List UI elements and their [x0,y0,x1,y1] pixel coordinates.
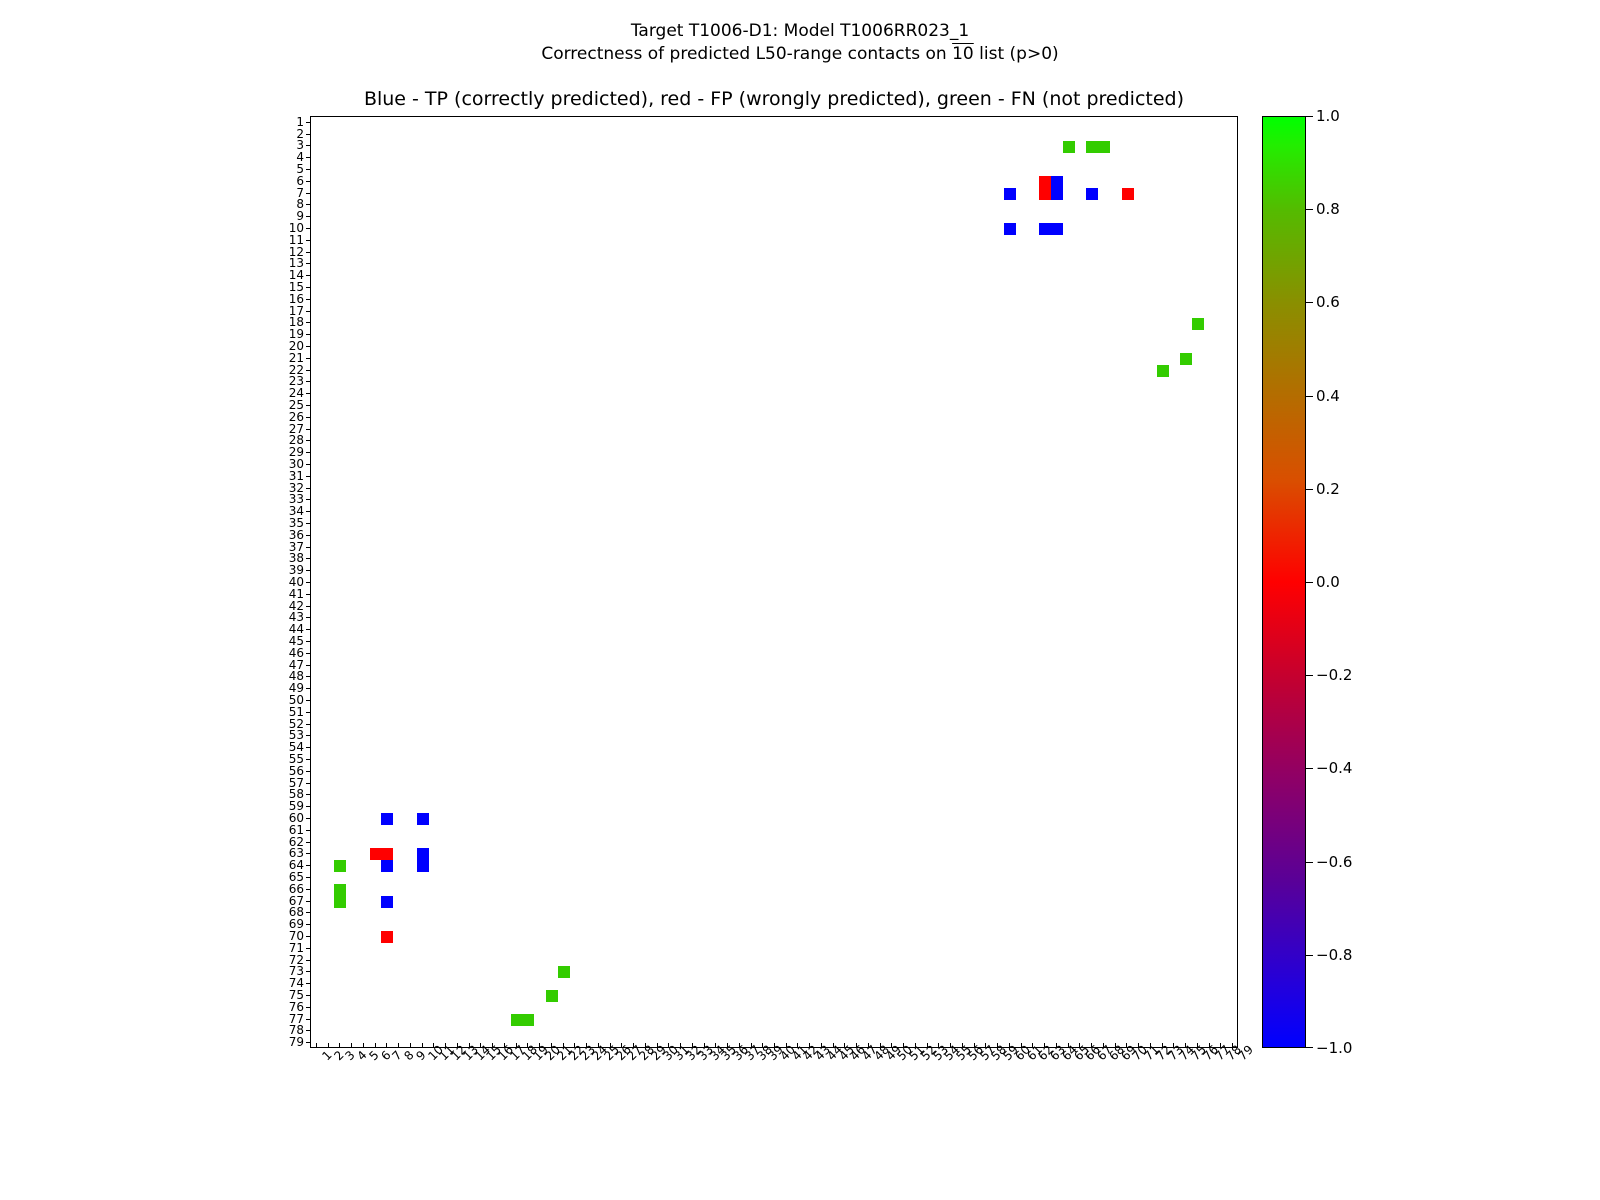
colorbar-tick-labels: 1.00.80.60.40.20.0−0.2−0.4−0.6−0.8−1.0 [1316,116,1396,1048]
contact-cell-tp [381,896,393,908]
y-axis-tick [306,169,311,170]
y-axis-tick [306,983,311,984]
y-axis-tick [306,299,311,300]
suptitle-overline-value: 10 [952,44,974,64]
y-axis-tick [306,594,311,595]
y-axis-tick [306,405,311,406]
contact-cell-tp [417,813,429,825]
suptitle-line-1: Target T1006-D1: Model T1006RR023_1 [631,21,969,41]
contact-cell-tp [381,860,393,872]
x-axis-tick [351,1043,352,1048]
y-axis-tick [306,759,311,760]
y-axis-tick [306,865,311,866]
y-axis-tick [306,948,311,949]
contact-cell-fn [1063,141,1075,153]
y-axis-tick [306,901,311,902]
y-axis-tick [306,783,311,784]
colorbar-tick [1306,955,1313,956]
y-axis-tick [306,429,311,430]
y-axis-tick [306,1007,311,1008]
contact-cell-fn [1192,318,1204,330]
colorbar-tick [1306,768,1313,769]
y-axis-tick [306,334,311,335]
y-axis-tick [306,558,311,559]
x-axis-tick [422,1043,423,1048]
x-axis-tick [398,1043,399,1048]
contact-cell-fp [370,848,382,860]
y-axis-tick [306,629,311,630]
x-axis-tick [316,1043,317,1048]
contact-cell-fn [1098,141,1110,153]
y-axis-tick [306,924,311,925]
y-axis-tick [306,971,311,972]
y-axis-tick [306,1030,311,1031]
colorbar-tick [1306,302,1313,303]
y-axis-tick [306,1019,311,1020]
y-axis-tick [306,830,311,831]
contact-map-plot-area [310,116,1238,1048]
y-axis-tick [306,582,311,583]
contact-cell-tp [1004,223,1016,235]
y-axis-tick [306,134,311,135]
colorbar-gradient [1262,116,1306,1048]
colorbar-tick [1306,209,1313,210]
y-axis-tick [306,181,311,182]
contact-cell-fn [1180,353,1192,365]
colorbar-tick-label: 0.4 [1316,389,1340,404]
y-axis-tick-label: 71 [289,942,304,954]
y-axis-tick [306,499,311,500]
contact-map-figure: Target T1006-D1: Model T1006RR023_1 Corr… [0,0,1600,1200]
colorbar-tick-label: 0.6 [1316,295,1340,310]
contact-cell-fn [522,1014,534,1026]
contact-cell-tp [417,848,429,860]
contact-cell-fn [1157,365,1169,377]
colorbar-tick [1306,582,1313,583]
y-axis-tick [306,960,311,961]
y-axis-tick [306,617,311,618]
y-axis-tick [306,641,311,642]
y-axis-tick [306,240,311,241]
colorbar-tick-label: −0.2 [1316,668,1352,683]
y-axis-tick [306,653,311,654]
y-axis-tick [306,818,311,819]
y-axis-tick [306,912,311,913]
y-axis-tick [306,275,311,276]
y-axis-tick-label: 76 [289,1001,304,1013]
contact-cell-fp [1039,188,1051,200]
x-axis-tick-label: 1 [320,1054,328,1062]
y-axis-tick [306,381,311,382]
contact-cell-tp [1086,188,1098,200]
contact-cell-fp [381,848,393,860]
y-axis-tick [306,523,311,524]
y-axis-tick [306,287,311,288]
colorbar-tick-label: −1.0 [1316,1041,1352,1056]
y-axis-tick [306,216,311,217]
y-axis-tick [306,157,311,158]
y-axis-tick [306,688,311,689]
y-axis-tick-label: 79 [289,1036,304,1048]
y-axis-tick [306,511,311,512]
x-axis-tick [386,1043,387,1048]
contact-cell-fn [334,884,346,896]
figure-suptitle: Target T1006-D1: Model T1006RR023_1 Corr… [0,20,1600,66]
colorbar-tick [1306,489,1313,490]
y-axis-tick-label: 56 [289,765,304,777]
x-axis-tick [363,1043,364,1048]
y-axis-tick [306,228,311,229]
colorbar-tick-label: −0.4 [1316,761,1352,776]
colorbar-tick-label: 0.8 [1316,202,1340,217]
suptitle-line-2-suffix: list (p>0) [974,44,1059,64]
y-axis-tick [306,464,311,465]
x-axis-tick [375,1043,376,1048]
contact-cell-fn [334,896,346,908]
y-axis-tick [306,570,311,571]
x-axis-tick [339,1043,340,1048]
colorbar-tick-label: −0.6 [1316,855,1352,870]
y-axis-tick [306,311,311,312]
y-axis-tick [306,322,311,323]
y-axis-tick [306,794,311,795]
contact-cell-fn [511,1014,523,1026]
contact-cell-fn [1086,141,1098,153]
colorbar-tick [1306,116,1313,117]
colorbar-tick [1306,1047,1313,1048]
y-axis-tick [306,735,311,736]
y-axis-tick-labels: 1234567891011121314151617181920212223242… [240,116,304,1048]
contact-cell-fp [1122,188,1134,200]
contact-cell-tp [417,860,429,872]
y-axis-tick [306,204,311,205]
contact-cell-fn [558,966,570,978]
axes-title: Blue - TP (correctly predicted), red - F… [310,88,1238,110]
y-axis-tick-label: 66 [289,883,304,895]
y-axis-tick [306,806,311,807]
y-axis-tick [306,1042,311,1043]
contact-cell-tp [381,813,393,825]
y-axis-tick [306,771,311,772]
y-axis-tick [306,712,311,713]
y-axis-tick [306,747,311,748]
y-axis-tick [306,263,311,264]
y-axis-tick [306,889,311,890]
colorbar-tick-label: −0.8 [1316,948,1352,963]
y-axis-tick [306,676,311,677]
y-axis-tick [306,370,311,371]
y-axis-tick [306,877,311,878]
x-axis-tick-labels: 1234567891011121314151617181920212223242… [310,1054,1270,1144]
y-axis-tick [306,665,311,666]
y-axis-tick [306,193,311,194]
y-axis-tick [306,488,311,489]
contact-cell-tp [1039,223,1051,235]
y-axis-tick [306,476,311,477]
y-axis-tick-label: 41 [289,588,304,600]
contact-cell-tp [1051,176,1063,188]
colorbar-tick [1306,862,1313,863]
contact-cell-tp [1051,223,1063,235]
y-axis-tick-label: 51 [289,706,304,718]
contact-cells-layer [311,117,1237,1047]
y-axis-tick [306,440,311,441]
y-axis-tick [306,252,311,253]
y-axis-tick [306,547,311,548]
y-axis-tick [306,936,311,937]
contact-cell-fn [546,990,558,1002]
contact-cell-tp [1004,188,1016,200]
x-axis-tick [410,1043,411,1048]
y-axis-tick [306,417,311,418]
y-axis-tick [306,995,311,996]
x-axis-tick [328,1043,329,1048]
colorbar-ticks [1306,116,1314,1048]
y-axis-tick-label: 61 [289,824,304,836]
y-axis-tick-label: 36 [289,529,304,541]
contact-cell-fn [334,860,346,872]
y-axis-tick [306,346,311,347]
colorbar-tick-label: 0.2 [1316,482,1340,497]
y-axis-tick [306,452,311,453]
y-axis-tick [306,853,311,854]
y-axis-tick [306,842,311,843]
y-axis-tick [306,535,311,536]
y-axis-tick [306,122,311,123]
y-axis-tick-label: 31 [289,470,304,482]
y-axis-tick [306,393,311,394]
y-axis-tick [306,606,311,607]
y-axis-tick [306,724,311,725]
y-axis-tick [306,145,311,146]
y-axis-tick-label: 46 [289,647,304,659]
suptitle-line-2-prefix: Correctness of predicted L50-range conta… [541,44,952,64]
contact-cell-fp [1039,176,1051,188]
colorbar-tick-label: 0.0 [1316,575,1340,590]
y-axis-tick [306,358,311,359]
colorbar-tick [1306,396,1313,397]
colorbar-tick [1306,675,1313,676]
y-axis-tick [306,700,311,701]
contact-cell-tp [1051,188,1063,200]
colorbar-tick-label: 1.0 [1316,109,1340,124]
contact-cell-fp [381,931,393,943]
